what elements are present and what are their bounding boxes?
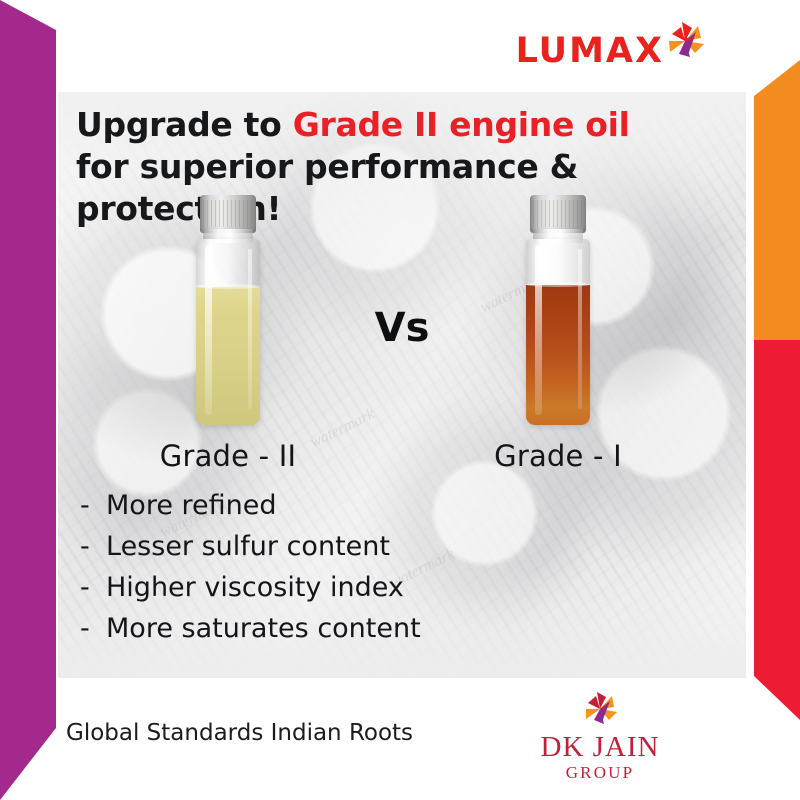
content-panel: watermark watermark watermark watermark … xyxy=(58,90,746,678)
glass-highlight xyxy=(205,245,212,415)
lumax-wordmark: LUMAX xyxy=(516,34,664,69)
dk-jain-name: DK JAIN xyxy=(512,732,688,762)
comparison-row: Grade - II Vs Grade - I xyxy=(58,195,746,485)
vial-glass-body xyxy=(196,239,260,425)
list-item: - Lesser sulfur content xyxy=(80,531,421,562)
footer-bar: Global Standards Indian Roots DK JAIN xyxy=(0,678,800,800)
lumax-logo: LUMAX xyxy=(516,18,708,69)
header-bar: LUMAX xyxy=(0,0,800,92)
lumax-pinwheel-icon xyxy=(662,18,708,64)
dk-jain-group-logo: DK JAIN GROUP xyxy=(512,688,688,783)
grade-1-sample: Grade - I xyxy=(483,195,633,473)
vial-cap xyxy=(530,195,586,233)
bullet-dash: - xyxy=(80,572,106,603)
grade-2-vial-icon xyxy=(196,195,260,425)
dk-jain-sub: GROUP xyxy=(512,763,688,783)
benefits-list: - More refined - Lesser sulfur content -… xyxy=(80,490,421,654)
list-item: - More refined xyxy=(80,490,421,521)
headline-highlight: Grade II engine oil xyxy=(293,105,630,144)
grade-2-sample: Grade - II xyxy=(153,195,303,473)
versus-label: Vs xyxy=(348,305,456,351)
bullet-dash: - xyxy=(80,490,106,521)
bullet-dash: - xyxy=(80,531,106,562)
glass-highlight xyxy=(535,245,542,415)
poster-canvas: LUMAX xyxy=(0,0,800,800)
footer-tagline: Global Standards Indian Roots xyxy=(66,720,413,746)
list-item: - Higher viscosity index xyxy=(80,572,421,603)
glass-highlight-secondary xyxy=(248,249,252,409)
vial-cap xyxy=(200,195,256,233)
headline-line-1: Upgrade to Grade II engine oil xyxy=(76,104,726,146)
benefit-text: More refined xyxy=(106,490,277,521)
benefit-text: More saturates content xyxy=(106,613,421,644)
headline-prefix: Upgrade to xyxy=(76,105,293,144)
grade-1-vial-icon xyxy=(526,195,590,425)
benefit-text: Higher viscosity index xyxy=(106,572,404,603)
benefit-text: Lesser sulfur content xyxy=(106,531,390,562)
list-item: - More saturates content xyxy=(80,613,421,644)
glass-highlight-secondary xyxy=(578,249,582,409)
grade-2-label: Grade - II xyxy=(153,439,303,473)
grade-1-label: Grade - I xyxy=(483,439,633,473)
dk-jain-pinwheel-icon xyxy=(579,688,621,730)
vial-glass-body xyxy=(526,239,590,425)
bullet-dash: - xyxy=(80,613,106,644)
